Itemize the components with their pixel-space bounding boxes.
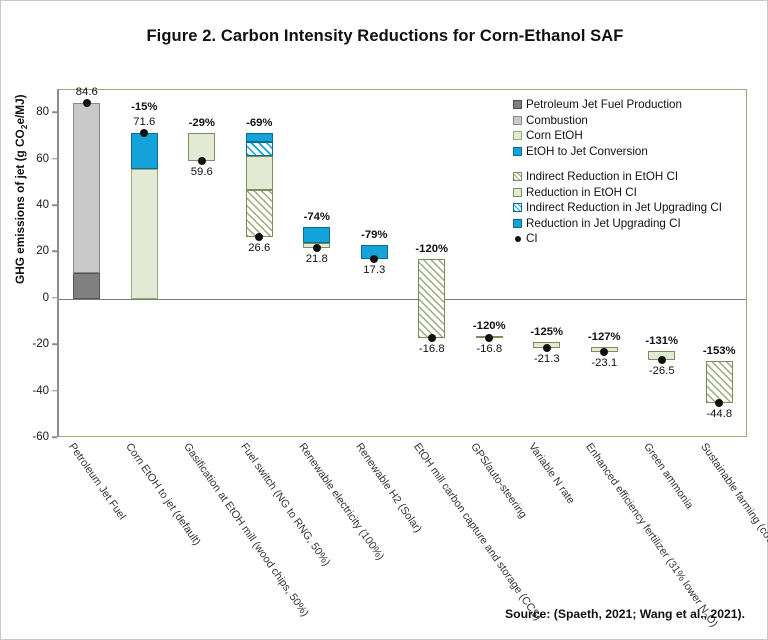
y-tick-mark [52,158,57,160]
legend-item-petroleum: Petroleum Jet Fuel Production [513,97,722,113]
legend-item-label: Petroleum Jet Fuel Production [526,97,682,113]
legend-item-label: CI [526,231,538,247]
x-axis-label: Enhanced efficiency fertilizer (31% lowe… [582,441,721,631]
legend-item-label: Indirect Reduction in Jet Upgrading CI [526,200,722,216]
legend-swatch-icon [513,203,522,212]
legend-swatch-icon [513,131,522,140]
y-axis-title-tail: e/MJ) [13,94,27,124]
x-axis-label: EtOH mill carbon capture and storage (CC… [411,441,543,623]
y-axis-title: GHG emissions of jet (g CO2e/MJ) [13,59,29,319]
x-axis-label: Variable N rate [526,441,577,506]
y-axis-title-sub: 2 [19,125,29,130]
legend-item-label: Reduction in Jet Upgrading CI [526,216,681,232]
legend-swatch-icon [513,100,522,109]
y-tick-mark [52,204,57,206]
x-axis-label: GPS/auto-steering [468,441,529,521]
legend-item-ci: CI [513,231,722,247]
y-tick-label: -20 [9,338,49,350]
y-tick-mark [52,436,57,438]
legend-swatch-icon [513,188,522,197]
source-note: Source: (Spaeth, 2021; Wang et al., 2021… [505,607,745,621]
ci-dot-icon [515,236,521,242]
legend-item-corn: Corn EtOH [513,128,722,144]
x-axis-label: Petroleum Jet Fuel [66,441,128,522]
legend-item-label: Combustion [526,113,588,129]
legend-item-red-etoh: Reduction in EtOH CI [513,185,722,201]
legend-swatch-icon [513,147,522,156]
legend-item-etohjet: EtOH to Jet Conversion [513,144,722,160]
y-tick-mark [52,390,57,392]
legend-swatch-icon [513,172,522,181]
legend-item-red-etoh-ind: Indirect Reduction in EtOH CI [513,169,722,185]
legend-swatch-icon [513,116,522,125]
legend-swatch-icon [513,219,522,228]
legend-item-label: Corn EtOH [526,128,583,144]
x-axis-label: Renewable H2 (Solar) [353,441,424,535]
legend-item-combustion: Combustion [513,113,722,129]
legend-item-red-jet: Reduction in Jet Upgrading CI [513,216,722,232]
x-axis-label: Green ammonia [641,441,695,511]
figure-page: Figure 2. Carbon Intensity Reductions fo… [0,0,768,640]
legend-item-label: EtOH to Jet Conversion [526,144,648,160]
legend: Petroleum Jet Fuel ProductionCombustionC… [513,97,722,247]
y-tick-mark [52,297,57,299]
y-tick-label: -40 [9,385,49,397]
legend-item-red-jet-ind: Indirect Reduction in Jet Upgrading CI [513,200,722,216]
y-tick-mark [52,343,57,345]
y-axis-title-text: GHG emissions of jet (g CO [13,129,27,284]
legend-item-label: Indirect Reduction in EtOH CI [526,169,678,185]
y-tick-mark [52,251,57,253]
y-tick-label: -60 [9,431,49,443]
legend-gap [513,159,722,169]
legend-item-label: Reduction in EtOH CI [526,185,637,201]
y-tick-mark [52,111,57,113]
x-axis-label: Gasification at EtOH mill (wood chips, 5… [181,441,311,619]
